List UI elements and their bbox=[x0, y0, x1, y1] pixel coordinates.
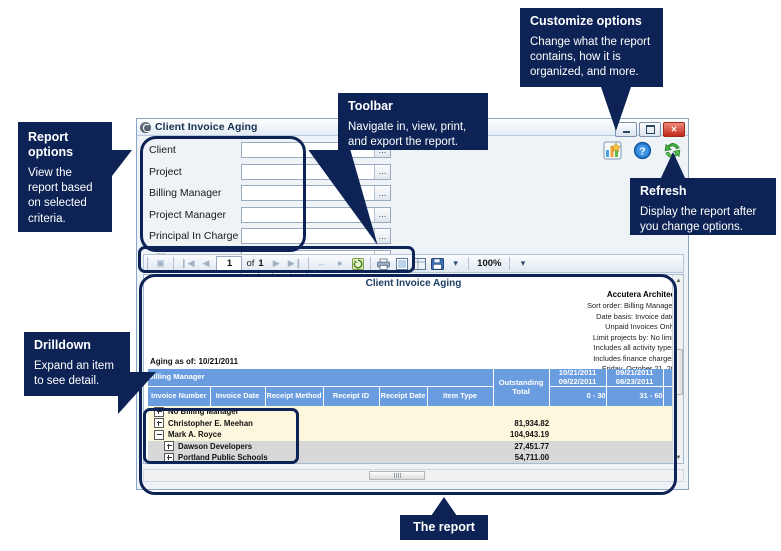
table-row[interactable]: Trimet 22,780.42 22,780.42 23,046. bbox=[148, 464, 684, 465]
table-row[interactable]: Mark A. Royce 104,943.19 104,943.19 bbox=[148, 429, 684, 441]
invoice-aging-table: Billing Manager Outstanding Total 10/21/… bbox=[148, 369, 684, 464]
column-invoice-number: Invoice Number bbox=[148, 387, 210, 407]
callout-title: Toolbar bbox=[348, 99, 478, 114]
row-label: Portland Public Schools bbox=[178, 453, 268, 462]
last-page-button[interactable]: ▶❙ bbox=[287, 256, 303, 271]
callout-title: Drilldown bbox=[34, 338, 120, 353]
expand-icon[interactable] bbox=[164, 453, 174, 463]
total-pages-label: 1 bbox=[258, 258, 265, 269]
scroll-up-icon[interactable]: ▲ bbox=[673, 275, 684, 286]
print-layout-icon[interactable] bbox=[394, 256, 409, 271]
row-bucket-0 bbox=[549, 406, 606, 418]
row-total: 54,711.00 bbox=[493, 452, 549, 464]
toolbar-separator bbox=[173, 257, 174, 270]
app-icon bbox=[140, 122, 151, 133]
callout-body: Change what the report contains, how it … bbox=[530, 35, 653, 81]
report-meta-finance-charges: Includes finance charges bbox=[470, 354, 675, 365]
column-invoice-date: Invoice Date bbox=[210, 387, 265, 407]
report-toolbar: ▣ ❙◀ ◀ 1 of 1 ▶ ▶❙ ← ● bbox=[143, 254, 684, 273]
toolbar-separator bbox=[308, 257, 309, 270]
callout-refresh: Refresh Display the report after you cha… bbox=[630, 178, 776, 235]
bucket-range-1: 31 - 60 bbox=[606, 387, 663, 407]
row-label: Mark A. Royce bbox=[168, 430, 221, 439]
bucket-header-1: 09/21/2011 08/23/2011 bbox=[606, 369, 663, 387]
row-total: 81,934.82 bbox=[493, 418, 549, 430]
toolbar-separator bbox=[370, 257, 371, 270]
customize-options-icon[interactable] bbox=[603, 141, 622, 160]
bucket-date-bottom: 09/22/2011 bbox=[550, 378, 606, 387]
billing-manager-lookup-icon[interactable]: ... bbox=[374, 186, 390, 200]
report-canvas: Client Invoice Aging Accutera Architec S… bbox=[143, 274, 684, 464]
option-label: Client bbox=[145, 144, 241, 156]
aging-as-of-label: Aging as of: 10/21/2011 bbox=[150, 357, 238, 366]
report-vertical-scrollbar[interactable]: ▲ ▼ bbox=[672, 275, 683, 463]
option-label: Billing Manager bbox=[145, 187, 241, 199]
row-bucket-0 bbox=[549, 452, 606, 464]
help-icon[interactable]: ? bbox=[633, 141, 652, 160]
company-name: Accutera Architec bbox=[470, 289, 675, 300]
callout-toolbar: Toolbar Navigate in, view, print, and ex… bbox=[338, 93, 488, 150]
column-receipt-id: Receipt ID bbox=[323, 387, 379, 407]
option-row-billing-manager: Billing Manager ... bbox=[145, 184, 431, 202]
back-to-parent-button[interactable]: ← bbox=[314, 256, 329, 271]
row-total bbox=[493, 406, 549, 418]
row-name-cell[interactable]: Trimet bbox=[148, 464, 493, 465]
report-horizontal-scrollbar[interactable] bbox=[143, 469, 684, 482]
client-invoice-aging-window: Client Invoice Aging ✕ ? bbox=[136, 118, 689, 490]
row-total: 22,780.42 bbox=[493, 464, 549, 465]
callout-title: Refresh bbox=[640, 184, 766, 199]
report-meta-date-basis: Date basis: Invoice date bbox=[470, 312, 675, 323]
total-label: Total bbox=[494, 388, 549, 397]
callout-body: Display the report after you change opti… bbox=[640, 205, 766, 235]
table-row[interactable]: Christopher E. Meehan 81,934.82 81,934.8… bbox=[148, 418, 684, 430]
callout-title: Customize options bbox=[530, 14, 653, 29]
callout-report-options-tail bbox=[112, 150, 132, 176]
callout-drilldown: Drilldown Expand an item to see detail. bbox=[24, 332, 130, 396]
row-bucket-1 bbox=[606, 452, 663, 464]
billing-manager-field[interactable]: ... bbox=[241, 185, 391, 201]
report-meta-limit-projects: Limit projects by: No limit bbox=[470, 333, 675, 344]
row-name-cell[interactable]: Mark A. Royce bbox=[148, 429, 493, 441]
table-header-row-1: Billing Manager Outstanding Total 10/21/… bbox=[148, 369, 684, 387]
row-bucket-1 bbox=[606, 429, 663, 441]
svg-text:?: ? bbox=[639, 145, 645, 157]
row-total: 104,943.19 bbox=[493, 429, 549, 441]
callout-title: Report options bbox=[28, 130, 102, 160]
expand-icon[interactable] bbox=[154, 418, 164, 428]
callout-report-options: Report options View the report based on … bbox=[18, 122, 112, 232]
row-bucket-0 bbox=[549, 418, 606, 430]
toolbar-overflow-icon[interactable]: ▾ bbox=[515, 256, 530, 271]
option-row-principal-in-charge: Principal In Charge ... bbox=[145, 227, 431, 245]
collapse-icon[interactable] bbox=[154, 430, 164, 440]
page-number-input[interactable]: 1 bbox=[216, 256, 242, 272]
column-receipt-date: Receipt Date bbox=[379, 387, 427, 407]
row-label: No Billing Manager bbox=[168, 407, 239, 416]
table-row[interactable]: Portland Public Schools 54,711.00 54,711… bbox=[148, 452, 684, 464]
callout-the-report-tail bbox=[431, 497, 457, 516]
maximize-button[interactable] bbox=[639, 122, 661, 137]
report-meta-sort-order: Sort order: Billing Manager bbox=[470, 301, 675, 312]
callout-body: View the report based on selected criter… bbox=[28, 166, 102, 227]
option-label: Principal In Charge bbox=[145, 230, 241, 242]
table-row[interactable]: Dawson Developers 27,451.77 27,451.77 bbox=[148, 441, 684, 453]
stop-rendering-button[interactable]: ● bbox=[332, 256, 347, 271]
vertical-scroll-thumb[interactable] bbox=[674, 349, 683, 395]
close-button[interactable]: ✕ bbox=[663, 122, 685, 137]
print-icon[interactable] bbox=[376, 256, 391, 271]
row-total: 27,451.77 bbox=[493, 441, 549, 453]
option-label: Project bbox=[145, 166, 241, 178]
previous-page-button[interactable]: ◀ bbox=[198, 256, 213, 271]
expand-icon[interactable] bbox=[164, 441, 174, 451]
column-group-billing-manager: Billing Manager bbox=[148, 369, 493, 387]
bucket-range-0: 0 - 30 bbox=[549, 387, 606, 407]
table-header-row-2: Invoice Number Invoice Date Receipt Meth… bbox=[148, 387, 684, 407]
row-name-cell[interactable]: No Billing Manager bbox=[148, 406, 493, 418]
scroll-down-icon[interactable]: ▼ bbox=[673, 452, 684, 463]
callout-title: The report bbox=[408, 520, 480, 535]
bucket-header-0: 10/21/2011 09/22/2011 bbox=[549, 369, 606, 387]
table-row[interactable]: No Billing Manager bbox=[148, 406, 684, 418]
column-outstanding-total: Outstanding Total bbox=[493, 369, 549, 406]
row-bucket-1 bbox=[606, 464, 663, 465]
row-bucket-1 bbox=[606, 441, 663, 453]
next-page-button[interactable]: ▶ bbox=[269, 256, 284, 271]
first-page-button[interactable]: ❙◀ bbox=[179, 256, 195, 271]
window-title: Client Invoice Aging bbox=[155, 121, 258, 133]
toolbar-document-map-button[interactable]: ▣ bbox=[153, 256, 168, 271]
option-row-project-manager: Project Manager ... bbox=[145, 206, 431, 224]
page-setup-icon[interactable] bbox=[412, 256, 427, 271]
callout-refresh-tail bbox=[660, 152, 686, 180]
project-lookup-icon[interactable]: ... bbox=[374, 165, 390, 179]
column-receipt-method: Receipt Method bbox=[265, 387, 323, 407]
toolbar-grip[interactable] bbox=[147, 257, 150, 270]
row-name-cell[interactable]: Dawson Developers bbox=[148, 441, 493, 453]
horizontal-scroll-thumb[interactable] bbox=[369, 471, 425, 480]
export-icon[interactable] bbox=[430, 256, 445, 271]
report-meta-activity-types: Includes all activity types bbox=[470, 343, 675, 354]
row-bucket-0 bbox=[549, 429, 606, 441]
option-label: Project Manager bbox=[145, 209, 241, 221]
column-item-type: Item Type bbox=[427, 387, 493, 407]
row-bucket-2 bbox=[663, 464, 684, 465]
row-bucket-1 bbox=[606, 418, 663, 430]
report-meta-unpaid: Unpaid Invoices Only bbox=[470, 322, 675, 333]
row-label: Dawson Developers bbox=[178, 442, 252, 451]
callout-body: Navigate in, view, print, and export the… bbox=[348, 120, 478, 150]
callout-the-report: The report bbox=[400, 515, 488, 540]
project-manager-lookup-icon[interactable]: ... bbox=[374, 208, 390, 222]
row-name-cell[interactable]: Portland Public Schools bbox=[148, 452, 493, 464]
row-label: Christopher E. Meehan bbox=[168, 419, 253, 428]
option-row-project: Project ... bbox=[145, 163, 431, 181]
export-dropdown-icon[interactable]: ▾ bbox=[448, 256, 463, 271]
zoom-level-label[interactable]: 100% bbox=[474, 258, 504, 269]
row-bucket-0 bbox=[549, 441, 606, 453]
bucket-date-bottom: 08/23/2011 bbox=[607, 378, 663, 387]
page-of-label: of bbox=[245, 258, 255, 269]
scroll-thumb-grip bbox=[394, 473, 401, 478]
callout-customize-options: Customize options Change what the report… bbox=[520, 8, 663, 87]
row-bucket-1 bbox=[606, 406, 663, 418]
toolbar-separator bbox=[468, 257, 469, 270]
callout-body: Expand an item to see detail. bbox=[34, 359, 120, 389]
refresh-report-button[interactable] bbox=[350, 256, 365, 271]
row-name-cell[interactable]: Christopher E. Meehan bbox=[148, 418, 493, 430]
callout-customize-options-tail bbox=[601, 87, 631, 131]
row-bucket-0 bbox=[549, 464, 606, 465]
toolbar-separator bbox=[509, 257, 510, 270]
